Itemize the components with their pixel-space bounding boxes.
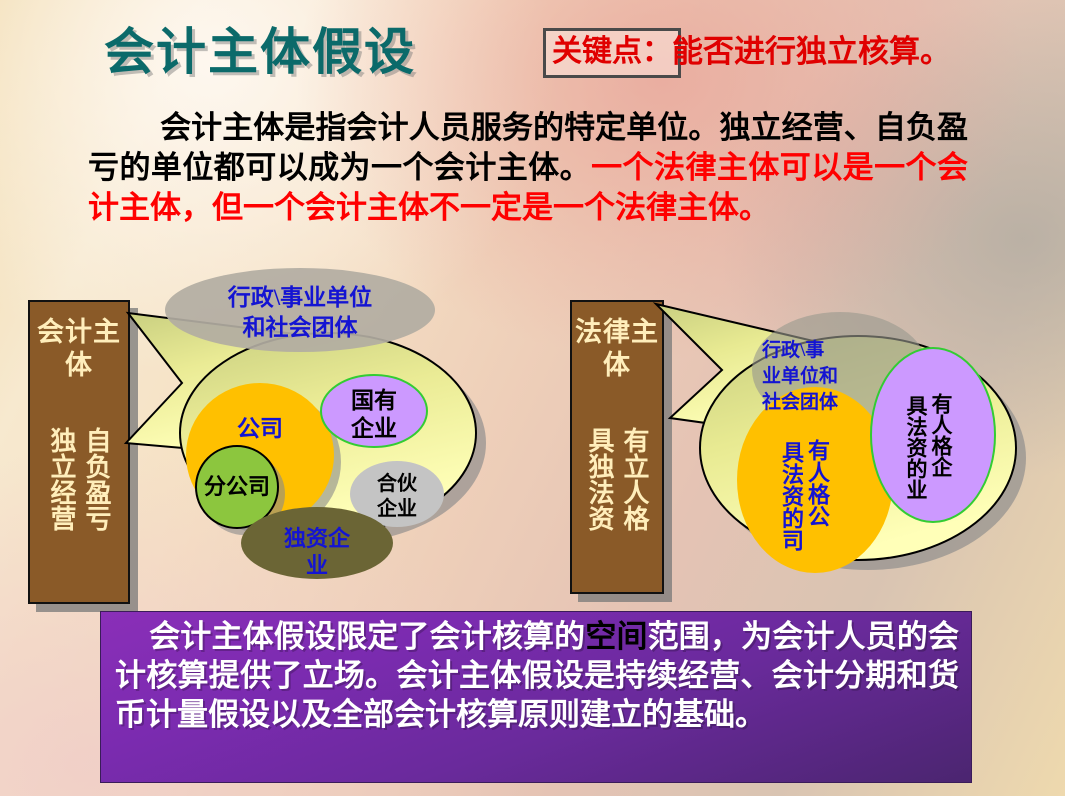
right-panel-col-2: 有立人格 [618, 404, 651, 554]
left-grey-ellipse-admin [165, 268, 435, 352]
page-title: 会计主体假设 [104, 22, 534, 82]
summary-segment-1: 会计主体假设限定了会计核算的 [149, 619, 585, 655]
right-diagram: 行政\事 业单位和 社会团体 具法资的司 有人格公 具法资的业 有人格企 [650, 300, 1050, 600]
legal-enterprise-ellipse [871, 348, 995, 522]
left-diagram-shapes [120, 275, 560, 605]
summary-text: 会计主体假设限定了会计核算的空间范围，为会计人员的会计核算提供了立场。会计主体假… [101, 612, 971, 735]
right-diagram-shapes [650, 300, 1050, 600]
key-point-text: 能否进行独立核算。 [672, 32, 951, 72]
left-panel-col-2: 自负盈亏 [80, 404, 113, 554]
left-panel-col-2-text: 自负盈亏 [80, 404, 113, 554]
state-owned-enterprise-ellipse [321, 375, 427, 447]
left-panel-columns: 独立经营 自负盈亏 [30, 404, 128, 554]
left-panel-accounting-entity: 会计主体 独立经营 自负盈亏 [28, 300, 130, 604]
body-paragraph: 会计主体是指会计人员服务的特定单位。独立经营、自负盈亏的单位都可以成为一个会计主… [88, 108, 968, 228]
right-panel-title: 法律主体 [572, 302, 662, 382]
right-panel-columns: 具独法资 有立人格 [572, 404, 662, 554]
summary-panel: 会计主体假设限定了会计核算的空间范围，为会计人员的会计核算提供了立场。会计主体假… [100, 611, 972, 783]
left-panel-col-1-text: 独立经营 [45, 404, 78, 554]
key-point-label-box: 关键点： [543, 28, 681, 78]
right-panel-col-1-text: 具独法资 [583, 404, 616, 554]
right-panel-col-1: 具独法资 [583, 404, 616, 554]
left-panel-col-1: 独立经营 [45, 404, 78, 554]
slide-canvas: 会计主体假设 关键点： 能否进行独立核算。 会计主体是指会计人员服务的特定单位。… [0, 0, 1065, 796]
left-diagram: 行政\事业单位 和社会团体 公司 分公司 国有 企业 合伙 企业 独资企 业 [120, 275, 560, 605]
sole-proprietorship-ellipse [241, 507, 393, 579]
summary-highlight: 空间 [585, 619, 647, 655]
branch-company-ellipse [196, 446, 278, 528]
left-panel-title: 会计主体 [30, 302, 128, 382]
right-panel-col-2-text: 有立人格 [618, 404, 651, 554]
legal-company-ellipse [737, 387, 893, 573]
